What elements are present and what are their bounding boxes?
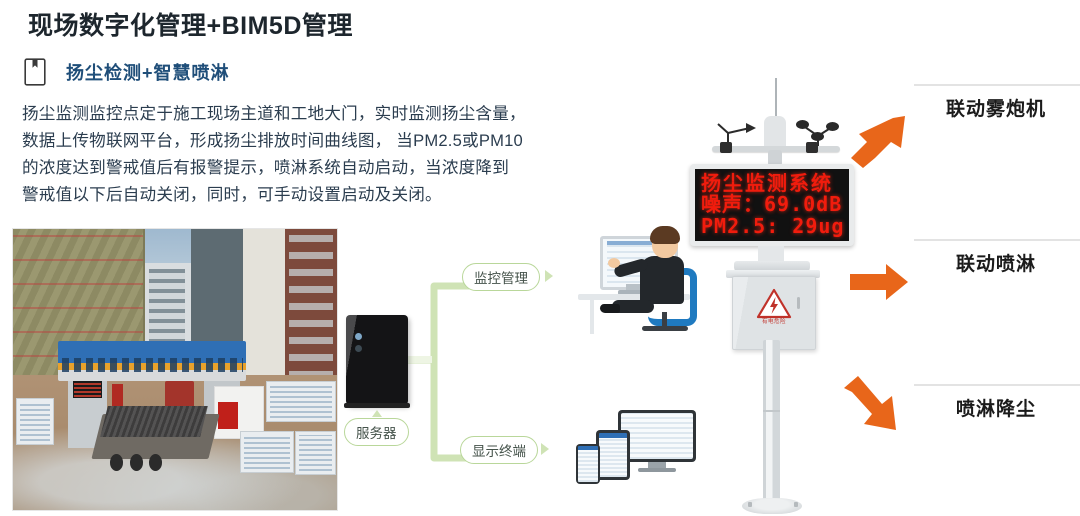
server-pointer-icon: [372, 410, 382, 417]
base-bolt: [748, 502, 752, 507]
photo-info-board: [266, 381, 336, 422]
led-line-pm25: PM2.5: 29ug: [701, 216, 843, 238]
section-heading-label: 扬尘检测+智慧喷淋: [66, 59, 230, 85]
control-cabinet: 有电危险: [732, 276, 816, 350]
label-display-terminal: 显示终端: [460, 436, 538, 464]
label-server: 服务器: [344, 418, 409, 446]
page-title: 现场数字化管理+BIM5D管理: [28, 6, 353, 42]
monitor-pointer-icon: [545, 270, 553, 282]
system-flow-diagram: 服务器 监控管理 显示终端: [338, 240, 688, 516]
terminal-pointer-icon: [541, 443, 549, 455]
arrow-right-icon: [848, 262, 910, 307]
description-paragraph: 扬尘监测监控点定于施工现场主道和工地大门，实时监测扬尘含量， 数据上传物联网平台…: [22, 100, 582, 208]
photo-info-board: [16, 398, 54, 445]
led-display-board: 扬尘监测系统 噪声：69.0dB PM2.5: 29ug: [690, 164, 854, 246]
station-pole: [763, 340, 780, 502]
description-line: 数据上传物联网平台，形成扬尘排放时间曲线图， 当PM2.5或PM10: [22, 127, 582, 154]
description-line: 的浓度达到警戒值后有报警提示，喷淋系统自动启动，当浓度降到: [22, 154, 582, 181]
result-card-linked-spray: 联动喷淋: [914, 239, 1078, 276]
tablet-icon: [596, 430, 630, 480]
photo-gate-slogan: [62, 358, 243, 372]
display-terminals-illustration: [576, 410, 696, 496]
terminal-monitor-foot: [638, 468, 676, 472]
description-line: 扬尘监测监控点定于施工现场主道和工地大门，实时监测扬尘含量，: [22, 100, 582, 127]
photo-gate-led-screen: [73, 381, 102, 398]
smartphone-icon: [576, 444, 600, 484]
photo-rebar-load: [100, 406, 208, 437]
result-card-dust-suppression: 喷淋降尘: [914, 384, 1078, 421]
led-line-title: 扬尘监测系统: [701, 173, 843, 195]
desk-leg: [590, 300, 594, 334]
result-card-caption: 联动喷淋: [914, 249, 1078, 276]
clipboard-icon: [24, 58, 46, 86]
person-hand: [608, 258, 620, 268]
construction-site-photo: [12, 228, 338, 511]
anemometer-icon: [796, 120, 840, 148]
arrow-down-right-icon: [838, 374, 910, 441]
fog-cannon-photo: [914, 84, 1080, 86]
photo-truck-wheel: [110, 454, 123, 471]
antenna-mast: [775, 78, 777, 118]
result-card-caption: 联动雾炮机: [914, 94, 1078, 121]
server-base: [344, 403, 410, 408]
base-bolt: [794, 502, 798, 507]
photo-info-board: [295, 431, 336, 475]
photo-building-e: [285, 229, 337, 392]
fence-mist-spray-photo: [914, 384, 1080, 386]
wind-vane-mount: [720, 142, 732, 153]
person-hair: [650, 226, 680, 244]
person-shoe: [600, 304, 620, 313]
operator-workstation-illustration: [578, 228, 693, 348]
anemometer-mount: [806, 142, 818, 153]
description-line: 警戒值以下后自动关闭，同时，可手动设置启动及关闭。: [22, 181, 582, 208]
dust-monitoring-station: 扬尘监测系统 噪声：69.0dB PM2.5: 29ug 有电危险: [690, 78, 865, 516]
warning-label: 有电危险: [733, 277, 815, 349]
section-heading: 扬尘检测+智慧喷淋: [24, 58, 230, 86]
photo-truck-wheel: [130, 454, 143, 471]
slide-root: 现场数字化管理+BIM5D管理 扬尘检测+智慧喷淋 扬尘监测监控点定于施工现场主…: [0, 0, 1080, 516]
server-tower-icon: [346, 315, 408, 405]
tower-crane-spray-photo: [914, 239, 1080, 241]
led-line-noise: 噪声：69.0dB: [701, 194, 843, 216]
arrow-up-right-icon: [845, 110, 917, 177]
result-card-caption: 喷淋降尘: [914, 394, 1078, 421]
pole-seam: [763, 410, 780, 412]
photo-building-d: [243, 229, 285, 384]
high-voltage-warning-icon: [756, 287, 792, 319]
photo-truck-wheel: [149, 454, 162, 471]
chair-base: [642, 326, 688, 331]
photo-info-board: [240, 431, 294, 472]
result-card-fog-cannon: 联动雾炮机: [914, 84, 1078, 121]
warning-text: 有电危险: [753, 317, 795, 325]
label-monitoring-management: 监控管理: [462, 263, 540, 291]
cabinet-latch: [797, 297, 800, 309]
